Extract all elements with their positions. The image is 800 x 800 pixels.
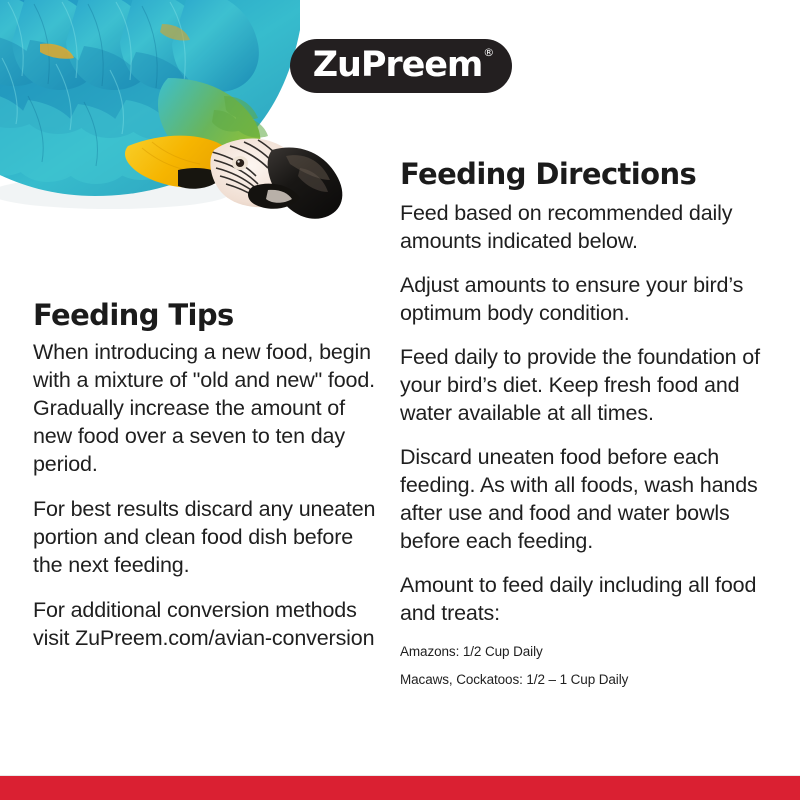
macaw-photo <box>0 0 370 245</box>
feeding-amounts-list: Amazons: 1/2 Cup Daily Macaws, Cockatoos… <box>400 644 772 689</box>
logo-wordmark: ZuPreem <box>309 48 482 83</box>
feeding-directions-paragraph-5: Amount to feed daily including all food … <box>400 572 772 628</box>
feeding-directions-paragraph-2: Adjust amounts to ensure your bird’s opt… <box>400 272 772 328</box>
macaw-nape <box>158 78 260 166</box>
feeding-tips-paragraph-3: For additional conversion methods visit … <box>33 597 378 653</box>
feeding-directions-paragraph-1: Feed based on recommended daily amounts … <box>400 200 772 256</box>
macaw-chin <box>178 168 224 189</box>
macaw-eye <box>232 156 248 170</box>
feeding-directions-column: Feeding Directions Feed based on recomme… <box>400 158 772 699</box>
feeding-amount-macaws-cockatoos: Macaws, Cockatoos: 1/2 – 1 Cup Daily <box>400 672 772 689</box>
feeding-tips-column: Feeding Tips When introducing a new food… <box>33 299 378 653</box>
feeding-directions-paragraph-3: Feed daily to provide the foundation of … <box>400 344 772 428</box>
macaw-illustration <box>0 0 370 245</box>
macaw-beak-upper <box>268 148 343 219</box>
macaw-body <box>0 0 300 198</box>
macaw-throat <box>125 136 236 188</box>
feeding-tips-paragraph-2: For best results discard any uneaten por… <box>33 496 378 580</box>
macaw-crown-feathers <box>212 96 268 138</box>
feeding-instructions-panel: ZuPreem® Feeding Tips When introducing a… <box>0 0 800 800</box>
feeding-amount-amazons: Amazons: 1/2 Cup Daily <box>400 644 772 661</box>
feeding-tips-heading: Feeding Tips <box>33 299 378 331</box>
macaw-beak-lower <box>248 184 300 209</box>
feeding-directions-heading: Feeding Directions <box>400 158 772 190</box>
macaw-face-patch <box>210 138 300 207</box>
footer-red-bar <box>0 776 800 800</box>
macaw-cere <box>278 150 310 169</box>
feeding-tips-paragraph-1: When introducing a new food, begin with … <box>33 339 378 479</box>
feeding-directions-paragraph-4: Discard uneaten food before each feeding… <box>400 444 772 556</box>
registered-trademark-icon: ® <box>483 47 494 58</box>
zupreem-logo: ZuPreem® <box>290 39 512 93</box>
